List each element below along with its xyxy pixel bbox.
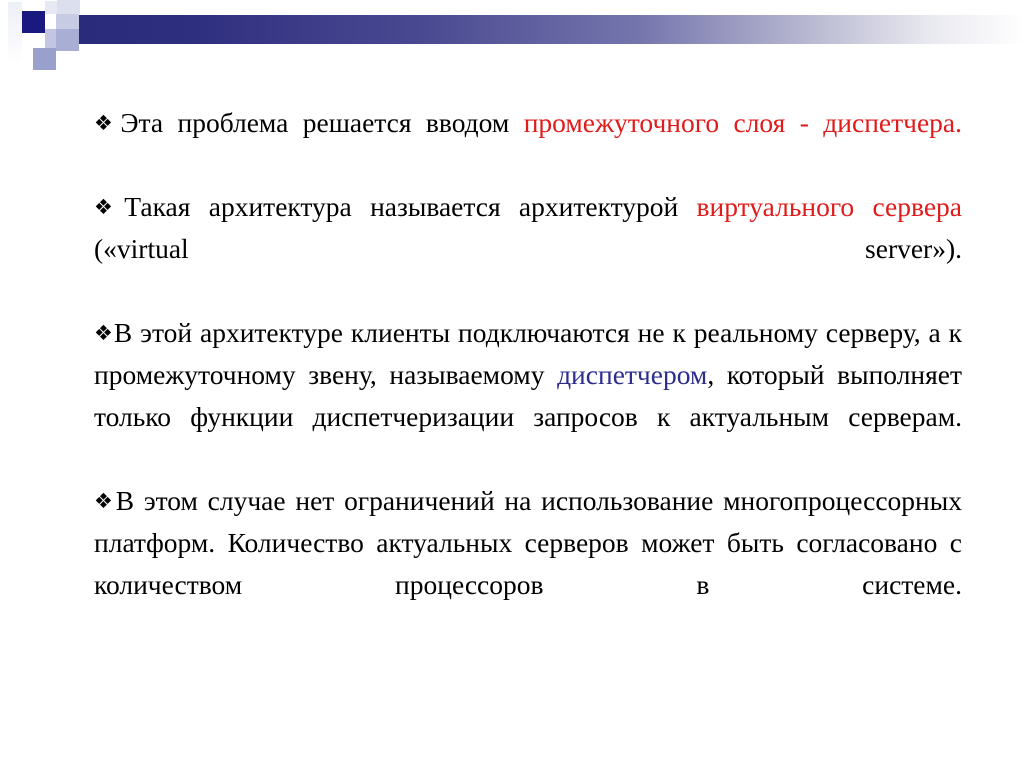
decor-square-top-mid: [57, 0, 80, 14]
paragraph-2-run-1: Такая архитектура называется архитектуро…: [124, 191, 696, 222]
diamond-bullet-icon: ❖: [94, 321, 114, 345]
decor-square-mid-light: [56, 14, 79, 29]
decor-pale-strip: [8, 2, 22, 64]
slide-header-decoration: [0, 0, 1024, 78]
paragraph-2-run-3: («virtual server»).: [94, 233, 962, 264]
bullet-paragraph-3: ❖В этой архитектуре клиенты подключаются…: [94, 312, 962, 480]
paragraph-2-run-2: виртуального сервера: [697, 191, 962, 222]
decor-square-lavender-3: [33, 48, 56, 70]
diamond-bullet-icon: ❖: [94, 489, 116, 513]
paragraph-4-run-1: В этом случае нет ограничений на использ…: [94, 485, 962, 600]
decor-square-lavender-2: [56, 29, 79, 51]
decor-square-navy: [22, 11, 45, 33]
bullet-paragraph-2: ❖Такая архитектура называется архитектур…: [94, 186, 962, 312]
paragraph-1-run-1: Эта проблема решается вводом: [120, 107, 523, 138]
bullet-paragraph-4: ❖В этом случае нет ограничений на исполь…: [94, 480, 962, 648]
bullet-paragraph-1: ❖Эта проблема решается вводом промежуточ…: [94, 102, 962, 186]
paragraph-1-run-2: промежуточного слоя - диспетчера.: [524, 107, 962, 138]
diamond-bullet-icon: ❖: [94, 195, 124, 219]
header-gradient-bar: [60, 15, 1024, 44]
diamond-bullet-icon: ❖: [94, 111, 120, 135]
slide-root: { "slide": { "decoration": { "bullet_gly…: [0, 0, 1024, 767]
paragraph-3-run-2-highlight: диспетчером: [557, 359, 707, 390]
slide-body: ❖Эта проблема решается вводом промежуточ…: [94, 102, 962, 648]
